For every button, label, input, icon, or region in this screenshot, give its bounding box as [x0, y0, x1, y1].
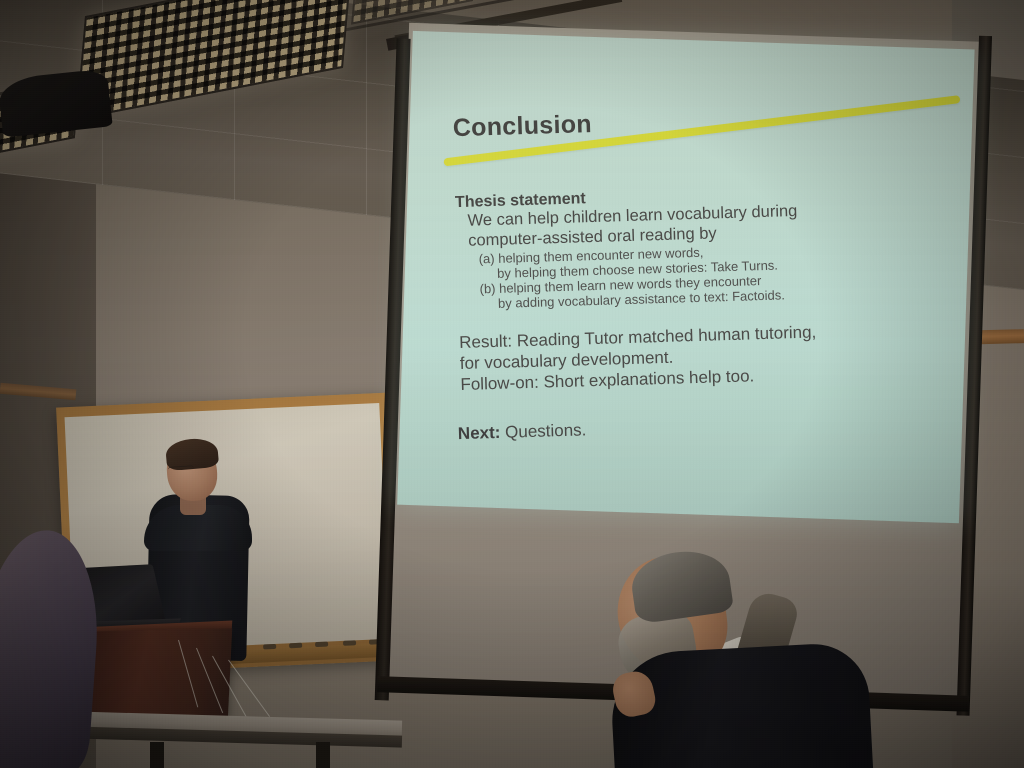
slide-thesis-block: Thesis statement We can help children le…	[455, 179, 958, 313]
presenter-glasses-icon	[168, 465, 195, 476]
presentation-room-photo: Conclusion Thesis statement We can help …	[0, 0, 1024, 768]
slide-next-block: Next: Questions.	[458, 420, 587, 444]
marker-icon	[343, 640, 356, 646]
lectern	[80, 628, 232, 723]
table-leg	[150, 742, 164, 768]
table-leg	[316, 742, 330, 768]
projected-slide: Conclusion Thesis statement We can help …	[397, 31, 974, 523]
next-label: Next:	[458, 423, 501, 443]
marker-icon	[289, 643, 302, 649]
next-text: Questions.	[505, 420, 587, 441]
marker-icon	[263, 644, 276, 650]
marker-icon	[315, 642, 328, 648]
slide-content: Conclusion Thesis statement We can help …	[398, 31, 974, 508]
slide-result-block: Result: Reading Tutor matched human tuto…	[459, 317, 971, 395]
slide-title: Conclusion	[452, 110, 592, 143]
